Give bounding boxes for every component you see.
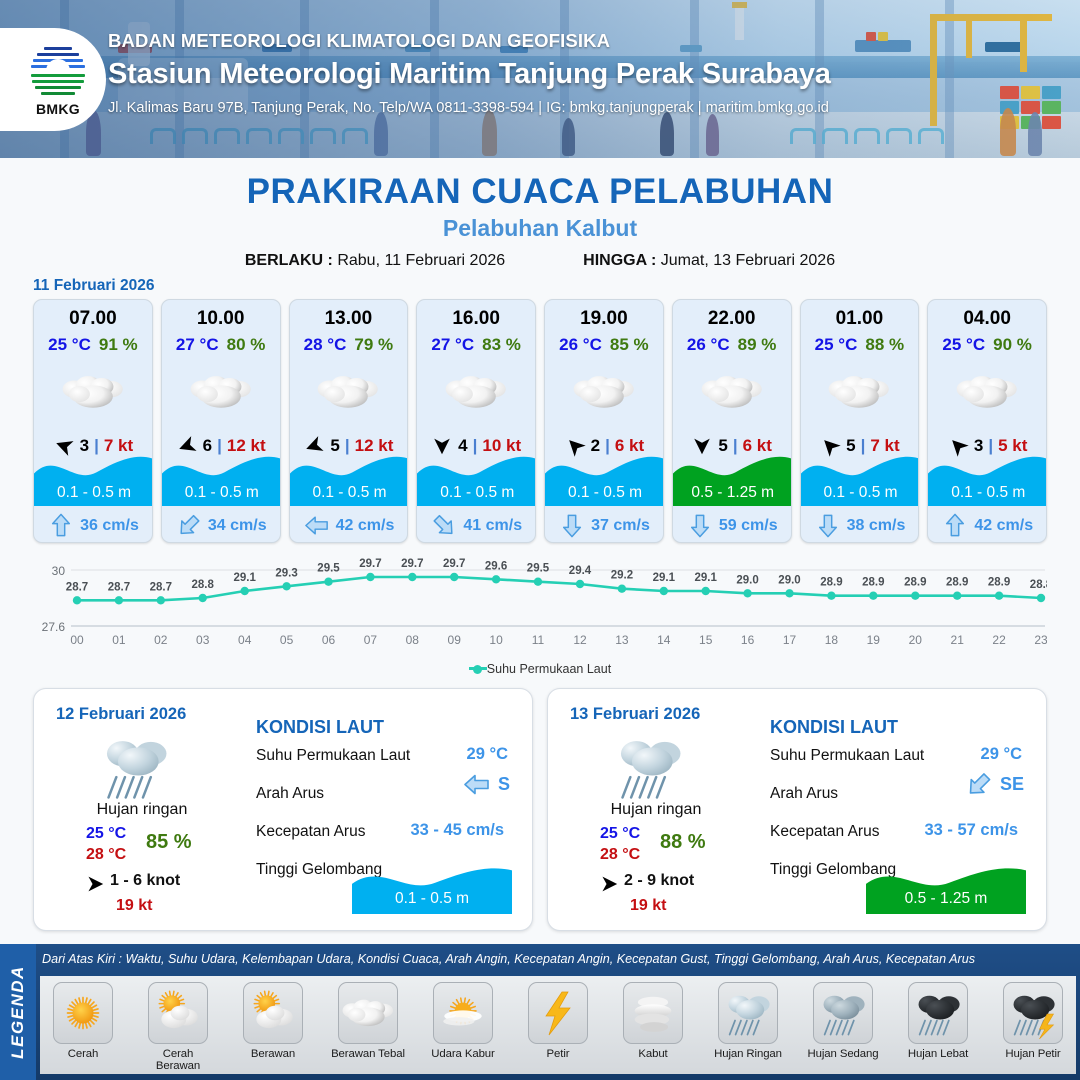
card-temperature: 26 °C <box>687 335 730 355</box>
panel-current-direction: SE <box>966 773 1024 796</box>
legend-icon-strip: Cerah Cerah Berawan Berawan <box>40 976 1076 1074</box>
hujan-petir-icon <box>1006 986 1060 1040</box>
card-weather-icon <box>34 361 152 423</box>
svg-text:13: 13 <box>615 633 629 647</box>
bmkg-logo-text: BMKG <box>24 101 92 117</box>
card-wave-height: 0.1 - 0.5 m <box>928 484 1047 502</box>
card-temp-hum: 25 °C 88 % <box>801 335 919 355</box>
legend-icon-box <box>148 982 208 1044</box>
svg-text:29.6: 29.6 <box>485 560 507 572</box>
valid-from-value: Rabu, 11 Februari 2026 <box>337 252 505 269</box>
card-current-speed: 59 cm/s <box>719 517 778 535</box>
panel-current-direction: S <box>464 773 510 796</box>
berawan-icon <box>956 373 1018 411</box>
svg-text:29.7: 29.7 <box>359 558 381 570</box>
legend-icon-box <box>338 982 398 1044</box>
panel-row-curdir-label: Arah Arus <box>256 785 324 803</box>
valid-from-label: BERLAKU : <box>245 252 333 269</box>
forecast-card: 07.00 25 °C 91 % 3 | 7 kt <box>33 299 153 543</box>
legend-item-label: Hujan Lebat <box>901 1048 975 1060</box>
panel-humidity: 88 % <box>660 831 706 854</box>
panel-condition: Hujan ringan <box>52 801 232 819</box>
valid-from: BERLAKU : Rabu, 11 Februari 2026 <box>245 252 505 270</box>
card-temp-hum: 27 °C 83 % <box>417 335 535 355</box>
legend-icon-box <box>623 982 683 1044</box>
panel-humidity: 85 % <box>146 831 192 854</box>
svg-text:30: 30 <box>52 564 66 578</box>
panel-condition: Hujan ringan <box>566 801 746 819</box>
agency-name: BADAN METEOROLOGI KLIMATOLOGI DAN GEOFIS… <box>108 30 831 52</box>
card-current: 36 cm/s <box>34 515 153 536</box>
legend-note: Dari Atas Kiri : Waktu, Suhu Udara, Kele… <box>42 952 1076 966</box>
legend-item: Cerah <box>46 982 120 1060</box>
svg-text:11: 11 <box>532 633 545 647</box>
berawan-icon <box>190 373 252 411</box>
card-time: 22.00 <box>673 308 791 330</box>
svg-text:29.4: 29.4 <box>569 565 592 577</box>
current-direction-icon <box>945 514 966 538</box>
legend-item: Kabut <box>616 982 690 1060</box>
hujan-lebat-icon <box>911 986 965 1040</box>
card-current-speed: 38 cm/s <box>847 517 906 535</box>
panel-current-speed: 33 - 57 cm/s <box>924 821 1018 840</box>
svg-text:28.8: 28.8 <box>1030 579 1047 591</box>
card-humidity: 85 % <box>610 335 649 355</box>
cerah-icon <box>58 988 108 1038</box>
svg-text:28.9: 28.9 <box>904 577 926 589</box>
forecast-card: 13.00 28 °C 79 % 5 | 12 kt <box>289 299 409 543</box>
hourly-forecast-strip: 07.00 25 °C 91 % 3 | 7 kt <box>33 299 1047 543</box>
card-time: 01.00 <box>801 308 919 330</box>
card-time: 13.00 <box>290 308 408 330</box>
card-current: 41 cm/s <box>417 515 536 536</box>
svg-text:29.1: 29.1 <box>653 572 676 584</box>
berawan-icon <box>62 373 124 411</box>
svg-text:28.9: 28.9 <box>862 577 884 589</box>
hujan-ringan-icon <box>610 727 688 805</box>
card-weather-icon <box>673 361 791 423</box>
cerah-berawan-icon <box>152 987 204 1039</box>
card-weather-icon <box>545 361 663 423</box>
card-temperature: 25 °C <box>815 335 858 355</box>
legend-item: Cerah Berawan <box>141 982 215 1072</box>
svg-text:07: 07 <box>364 633 378 647</box>
card-humidity: 91 % <box>99 335 138 355</box>
svg-text:29.7: 29.7 <box>443 558 465 570</box>
panel-temp-max: 28 °C <box>600 846 640 864</box>
panel-row-sst-label: Suhu Permukaan Laut <box>256 747 410 765</box>
card-humidity: 83 % <box>482 335 521 355</box>
infographic-page: BMKG BADAN METEOROLOGI KLIMATOLOGI DAN G… <box>0 0 1080 1080</box>
page-subtitle: Pelabuhan Kalbut <box>0 215 1080 242</box>
daily-forecast-panel: 13 Februari 2026 Hujan ringan 25 °C 28 °… <box>547 688 1047 931</box>
card-current: 34 cm/s <box>162 515 281 536</box>
legend-icon-box <box>528 982 588 1044</box>
legend-item: Berawan <box>236 982 310 1060</box>
legend-item-label: Petir <box>521 1048 595 1060</box>
svg-text:23: 23 <box>1034 633 1047 647</box>
panel-gust: 19 kt <box>630 897 666 915</box>
panel-temp-min: 25 °C <box>86 825 126 843</box>
panel-wave-height: 0.1 - 0.5 m <box>352 890 512 908</box>
svg-text:15: 15 <box>699 633 713 647</box>
current-direction-icon <box>562 514 583 538</box>
berawan-icon <box>828 373 890 411</box>
legend-icon-box <box>243 982 303 1044</box>
panel-wind-arrow <box>598 875 620 893</box>
validity-row: BERLAKU : Rabu, 11 Februari 2026 HINGGA … <box>0 252 1080 270</box>
card-temperature: 26 °C <box>559 335 602 355</box>
legend-item: Udara Kabur <box>426 982 500 1060</box>
card-humidity: 89 % <box>738 335 777 355</box>
svg-text:29.3: 29.3 <box>275 567 297 579</box>
panel-wave-height: 0.5 - 1.25 m <box>866 890 1026 908</box>
svg-text:28.7: 28.7 <box>150 581 172 593</box>
current-direction-icon <box>689 514 710 538</box>
current-direction-icon <box>428 510 460 542</box>
legend-item-label: Kabut <box>616 1048 690 1060</box>
forecast-card: 10.00 27 °C 80 % 6 | 12 kt <box>161 299 281 543</box>
card-humidity: 79 % <box>354 335 393 355</box>
bmkg-logo: BMKG <box>0 28 106 131</box>
legend-section: LEGENDA Dari Atas Kiri : Waktu, Suhu Uda… <box>0 944 1080 1080</box>
svg-text:29.0: 29.0 <box>736 574 758 586</box>
legend-item-label: Berawan Tebal <box>331 1048 405 1060</box>
card-wave-height: 0.1 - 0.5 m <box>417 484 536 502</box>
svg-text:28.9: 28.9 <box>820 577 842 589</box>
card-temperature: 25 °C <box>942 335 985 355</box>
panel-row-curspd-label: Kecepatan Arus <box>770 823 879 841</box>
panel-wind-range: 1 - 6 knot <box>110 872 180 890</box>
panel-date: 12 Februari 2026 <box>56 705 186 724</box>
card-time: 16.00 <box>417 308 535 330</box>
card-current: 42 cm/s <box>928 515 1047 536</box>
svg-text:29.1: 29.1 <box>695 572 718 584</box>
contact-info: Jl. Kalimas Baru 97B, Tanjung Perak, No.… <box>108 100 831 116</box>
card-temperature: 27 °C <box>176 335 219 355</box>
panel-date: 13 Februari 2026 <box>570 705 700 724</box>
panel-gust: 19 kt <box>116 897 152 915</box>
legend-label: Suhu Permukaan Laut <box>487 662 611 676</box>
panel-wind-arrow <box>84 875 106 893</box>
berawan-icon <box>342 997 394 1029</box>
card-time: 19.00 <box>545 308 663 330</box>
svg-text:28.7: 28.7 <box>66 581 88 593</box>
svg-text:29.5: 29.5 <box>317 563 340 575</box>
svg-text:10: 10 <box>489 633 503 647</box>
page-title: PRAKIRAAN CUACA PELABUHAN <box>0 172 1080 212</box>
card-temperature: 27 °C <box>431 335 474 355</box>
card-current: 37 cm/s <box>545 515 664 536</box>
legend-icon-box <box>433 982 493 1044</box>
station-name: Stasiun Meteorologi Maritim Tanjung Pera… <box>108 58 831 91</box>
legend-icon-box <box>1003 982 1063 1044</box>
panel-weather-icon <box>610 727 664 786</box>
panel-row-curdir-label: Arah Arus <box>770 785 838 803</box>
hujan-ringan-icon <box>721 986 775 1040</box>
legend-item: Petir <box>521 982 595 1060</box>
svg-text:05: 05 <box>280 633 294 647</box>
card-temp-hum: 26 °C 89 % <box>673 335 791 355</box>
daily-forecast-panels: 12 Februari 2026 Hujan ringan 25 °C 28 °… <box>33 688 1047 931</box>
svg-text:28.7: 28.7 <box>108 581 130 593</box>
valid-until-label: HINGGA : <box>583 252 656 269</box>
panel-temp-min: 25 °C <box>600 825 640 843</box>
svg-text:21: 21 <box>951 633 965 647</box>
legend-icon-box <box>908 982 968 1044</box>
svg-text:08: 08 <box>406 633 420 647</box>
wind-direction-icon <box>598 875 620 893</box>
panel-sst-value: 29 °C <box>467 745 508 764</box>
berawan-icon <box>247 987 299 1039</box>
panel-temp-max: 28 °C <box>86 846 126 864</box>
card-wave-height: 0.1 - 0.5 m <box>290 484 409 502</box>
svg-text:19: 19 <box>867 633 881 647</box>
current-direction-icon <box>962 767 997 802</box>
card-current-speed: 42 cm/s <box>336 517 395 535</box>
svg-text:29.0: 29.0 <box>778 574 800 586</box>
panel-sst-value: 29 °C <box>981 745 1022 764</box>
card-temp-hum: 25 °C 90 % <box>928 335 1046 355</box>
title-block: PRAKIRAAN CUACA PELABUHAN Pelabuhan Kalb… <box>0 158 1080 270</box>
svg-text:02: 02 <box>154 633 168 647</box>
card-humidity: 90 % <box>993 335 1032 355</box>
card-current: 42 cm/s <box>290 515 409 536</box>
legend-item: Hujan Ringan <box>711 982 785 1060</box>
svg-text:06: 06 <box>322 633 336 647</box>
svg-text:29.1: 29.1 <box>234 572 257 584</box>
card-weather-icon <box>417 361 535 423</box>
valid-until-value: Jumat, 13 Februari 2026 <box>661 252 835 269</box>
card-wave-height: 0.1 - 0.5 m <box>162 484 281 502</box>
svg-text:28.9: 28.9 <box>988 577 1010 589</box>
berawan-icon <box>317 373 379 411</box>
header-text-block: BADAN METEOROLOGI KLIMATOLOGI DAN GEOFIS… <box>108 30 831 116</box>
legend-side-label: LEGENDA <box>0 944 36 1080</box>
berawan-icon <box>701 373 763 411</box>
card-current-speed: 41 cm/s <box>463 517 522 535</box>
svg-text:16: 16 <box>741 633 755 647</box>
panel-row-curspd-label: Kecepatan Arus <box>256 823 365 841</box>
svg-text:12: 12 <box>573 633 587 647</box>
card-current-speed: 34 cm/s <box>208 517 267 535</box>
svg-text:29.5: 29.5 <box>527 563 550 575</box>
card-weather-icon <box>290 361 408 423</box>
card-current: 59 cm/s <box>673 515 792 536</box>
card-current-speed: 42 cm/s <box>974 517 1033 535</box>
panel-current-speed: 33 - 45 cm/s <box>410 821 504 840</box>
legend-item-label: Berawan <box>236 1048 310 1060</box>
legend-icon-box <box>718 982 778 1044</box>
svg-text:00: 00 <box>70 633 84 647</box>
card-wave-height: 0.1 - 0.5 m <box>545 484 664 502</box>
svg-text:17: 17 <box>783 633 797 647</box>
svg-text:29.7: 29.7 <box>401 558 423 570</box>
bmkg-emblem-icon <box>28 41 88 101</box>
card-temp-hum: 28 °C 79 % <box>290 335 408 355</box>
panel-current-direction-text: SE <box>1000 774 1024 795</box>
card-temp-hum: 27 °C 80 % <box>162 335 280 355</box>
panel-current-direction-text: S <box>498 774 510 795</box>
svg-text:28.8: 28.8 <box>192 579 215 591</box>
card-temp-hum: 26 °C 85 % <box>545 335 663 355</box>
card-temp-hum: 25 °C 91 % <box>34 335 152 355</box>
svg-text:09: 09 <box>448 633 462 647</box>
legend-icon-box <box>53 982 113 1044</box>
current-direction-icon <box>817 514 838 538</box>
panel-weather-icon <box>96 727 150 786</box>
petir-icon <box>533 988 583 1038</box>
forecast-card: 04.00 25 °C 90 % 3 | 5 kt <box>927 299 1047 543</box>
card-time: 10.00 <box>162 308 280 330</box>
chart-legend: Suhu Permukaan Laut <box>33 662 1047 676</box>
wind-direction-icon <box>84 875 106 893</box>
svg-text:22: 22 <box>992 633 1006 647</box>
svg-text:18: 18 <box>825 633 839 647</box>
card-weather-icon <box>801 361 919 423</box>
legend-side-text: LEGENDA <box>8 965 28 1059</box>
udara-kabur-icon <box>437 987 489 1039</box>
legend-item: Berawan Tebal <box>331 982 405 1060</box>
current-direction-icon <box>51 514 72 538</box>
valid-until: HINGGA : Jumat, 13 Februari 2026 <box>583 252 835 270</box>
svg-text:29.2: 29.2 <box>611 570 633 582</box>
card-time: 07.00 <box>34 308 152 330</box>
svg-text:04: 04 <box>238 633 252 647</box>
svg-text:20: 20 <box>909 633 923 647</box>
legend-item-label: Cerah <box>46 1048 120 1060</box>
sst-chart-svg: 3027.628.70028.70128.70228.80329.10429.3… <box>33 556 1047 660</box>
panel-row-sst-label: Suhu Permukaan Laut <box>770 747 924 765</box>
panel-sea-title: KONDISI LAUT <box>770 717 898 738</box>
svg-text:14: 14 <box>657 633 671 647</box>
panel-sea-title: KONDISI LAUT <box>256 717 384 738</box>
svg-text:01: 01 <box>112 633 126 647</box>
legend-item-label: Hujan Sedang <box>806 1048 880 1060</box>
forecast-day-label: 11 Februari 2026 <box>33 277 155 295</box>
svg-text:03: 03 <box>196 633 210 647</box>
daily-forecast-panel: 12 Februari 2026 Hujan ringan 25 °C 28 °… <box>33 688 533 931</box>
svg-text:28.9: 28.9 <box>946 577 968 589</box>
card-humidity: 80 % <box>227 335 266 355</box>
legend-icon-box <box>813 982 873 1044</box>
forecast-card: 19.00 26 °C 85 % 2 | 6 kt <box>544 299 664 543</box>
kabut-icon <box>626 986 680 1040</box>
panel-wind-range: 2 - 9 knot <box>624 872 694 890</box>
forecast-card: 01.00 25 °C 88 % 5 | 7 kt <box>800 299 920 543</box>
legend-item-label: Cerah Berawan <box>141 1048 215 1072</box>
card-time: 04.00 <box>928 308 1046 330</box>
svg-text:27.6: 27.6 <box>42 620 66 634</box>
card-wave-height: 0.1 - 0.5 m <box>801 484 920 502</box>
card-current-speed: 37 cm/s <box>591 517 650 535</box>
legend-item-label: Hujan Ringan <box>711 1048 785 1060</box>
forecast-card: 16.00 27 °C 83 % 4 | 10 kt <box>416 299 536 543</box>
card-weather-icon <box>928 361 1046 423</box>
card-current: 38 cm/s <box>801 515 920 536</box>
current-direction-icon <box>305 515 329 536</box>
card-temperature: 25 °C <box>48 335 91 355</box>
berawan-icon <box>445 373 507 411</box>
card-wave-height: 0.5 - 1.25 m <box>673 484 792 502</box>
legend-item-label: Hujan Petir <box>996 1048 1070 1060</box>
legend-item: Hujan Petir <box>996 982 1070 1060</box>
card-wave-height: 0.1 - 0.5 m <box>34 484 153 502</box>
legend-line-swatch <box>469 667 487 670</box>
legend-item: Hujan Lebat <box>901 982 975 1060</box>
hujan-sedang-icon <box>816 986 870 1040</box>
forecast-card: 22.00 26 °C 89 % 5 | 6 kt <box>672 299 792 543</box>
current-direction-icon <box>464 773 490 796</box>
current-direction-icon <box>173 510 205 542</box>
berawan-icon <box>573 373 635 411</box>
card-temperature: 28 °C <box>304 335 347 355</box>
card-humidity: 88 % <box>865 335 904 355</box>
card-current-speed: 36 cm/s <box>80 517 139 535</box>
card-weather-icon <box>162 361 280 423</box>
legend-item: Hujan Sedang <box>806 982 880 1060</box>
page-header: BMKG BADAN METEOROLOGI KLIMATOLOGI DAN G… <box>0 0 1080 158</box>
hujan-ringan-icon <box>96 727 174 805</box>
legend-item-label: Udara Kabur <box>426 1048 500 1060</box>
sst-chart: 3027.628.70028.70128.70228.80329.10429.3… <box>33 556 1047 684</box>
